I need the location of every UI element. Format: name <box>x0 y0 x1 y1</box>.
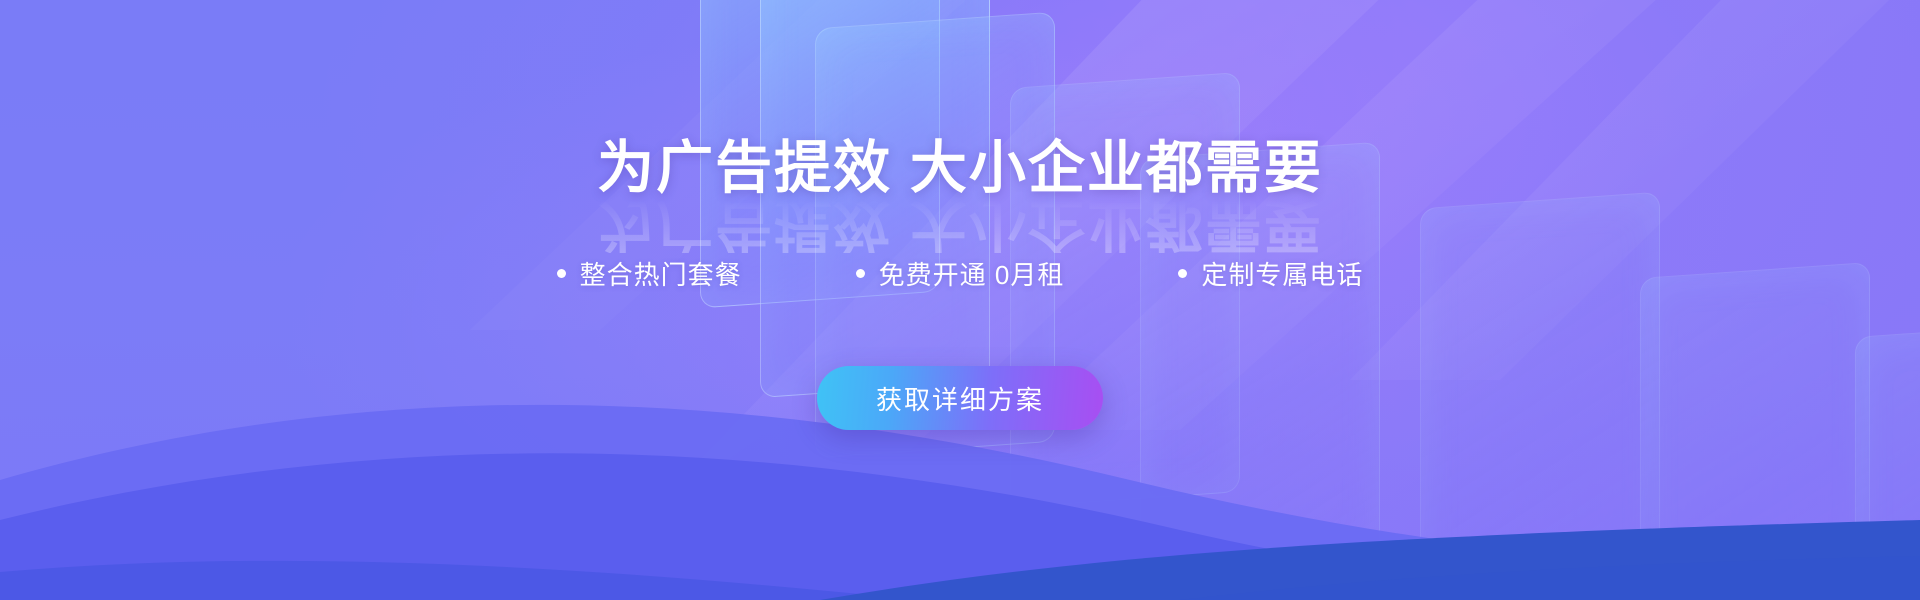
headline-reflection: 为广告提效 大小企业都需要 <box>597 196 1323 253</box>
bullet-label: 免费开通 0月租 <box>879 255 1065 292</box>
feature-bullet-list: 整合热门套餐 免费开通 0月租 定制专属电话 <box>557 255 1364 292</box>
promo-banner: 为广告提效 大小企业都需要 为广告提效 大小企业都需要 整合热门套餐 免费开通 … <box>0 0 1920 600</box>
banner-content: 为广告提效 大小企业都需要 为广告提效 大小企业都需要 整合热门套餐 免费开通 … <box>0 0 1920 600</box>
bullet-label: 整合热门套餐 <box>580 255 742 292</box>
list-item: 定制专属电话 <box>1178 255 1363 292</box>
bullet-label: 定制专属电话 <box>1201 255 1363 292</box>
get-detailed-plan-button[interactable]: 获取详细方案 <box>817 366 1103 430</box>
list-item: 整合热门套餐 <box>557 255 742 292</box>
bullet-dot-icon <box>856 269 865 278</box>
headline-block: 为广告提效 大小企业都需要 为广告提效 大小企业都需要 <box>597 140 1323 197</box>
list-item: 免费开通 0月租 <box>856 255 1065 292</box>
bullet-dot-icon <box>1178 269 1187 278</box>
bullet-dot-icon <box>557 269 566 278</box>
page-title: 为广告提效 大小企业都需要 <box>597 140 1323 197</box>
